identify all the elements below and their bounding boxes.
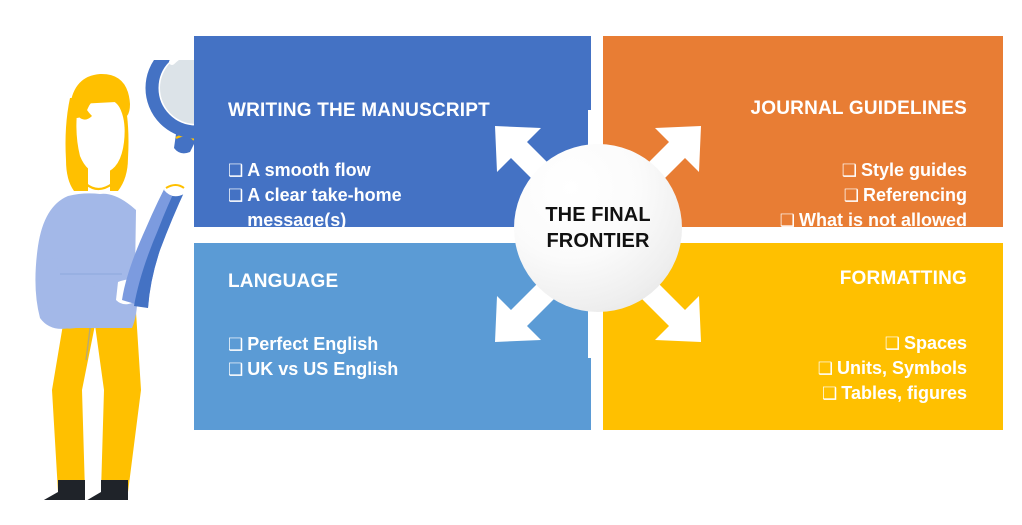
checkbox-icon: ❑ [818,359,837,378]
checkbox-icon: ❑ [228,186,247,205]
checkbox-icon: ❑ [228,335,247,354]
checkbox-icon: ❑ [780,211,799,230]
center-hub: THE FINAL FRONTIER [478,110,718,358]
quadrant-title: FORMATTING [840,268,967,290]
list-item-label: A clear take-home message(s) [247,183,473,233]
checkbox-icon: ❑ [822,384,841,403]
list-item: ❑Perfect English [228,332,398,357]
list-item-label: A smooth flow [247,160,370,180]
list-item-label: Spaces [904,333,967,353]
quadrant-title: WRITING THE MANUSCRIPT [228,100,490,122]
list-item: ❑Units, Symbols [818,356,967,381]
right-hand [164,168,192,196]
list-item-label: Referencing [863,185,967,205]
list-item: ❑A clear take-home message(s) [228,183,473,233]
quadrant-item-list: ❑Spaces ❑Units, Symbols ❑Tables, figures [818,331,967,406]
quadrant-item-list: ❑Perfect English ❑UK vs US English [228,332,398,382]
center-label: THE FINAL FRONTIER [514,144,682,312]
list-item: ❑Spaces [818,331,967,356]
center-label-line-1: THE FINAL [545,202,650,228]
checkbox-icon: ❑ [228,360,247,379]
list-item-label: UK vs US English [247,359,398,379]
list-item-label: Units, Symbols [837,358,967,378]
checkbox-icon: ❑ [844,186,863,205]
list-item: ❑UK vs US English [228,357,398,382]
list-item-label: Perfect English [247,334,378,354]
list-item-label: What is not allowed [799,210,967,230]
woman-with-magnifying-glass-illustration [0,60,200,500]
list-item: ❑Tables, figures [818,381,967,406]
checkbox-icon: ❑ [228,161,247,180]
infographic-canvas: WRITING THE MANUSCRIPT ❑A smooth flow ❑A… [0,0,1022,525]
checkbox-icon: ❑ [842,161,861,180]
list-item-label: Style guides [861,160,967,180]
quadrant-title: JOURNAL GUIDELINES [751,98,968,120]
list-item: ❑Style guides [780,158,967,183]
quadrant-item-list: ❑A smooth flow ❑A clear take-home messag… [228,158,473,233]
quadrant-title: LANGUAGE [228,271,338,293]
center-label-line-2: FRONTIER [546,228,649,254]
list-item: ❑Referencing [780,183,967,208]
quadrant-item-list: ❑Style guides ❑Referencing ❑What is not … [780,158,967,233]
list-item: ❑What is not allowed [780,208,967,233]
list-item: ❑A smooth flow [228,158,473,183]
left-shoe [27,480,85,500]
list-item-label: Tables, figures [841,383,967,403]
checkbox-icon: ❑ [885,334,904,353]
